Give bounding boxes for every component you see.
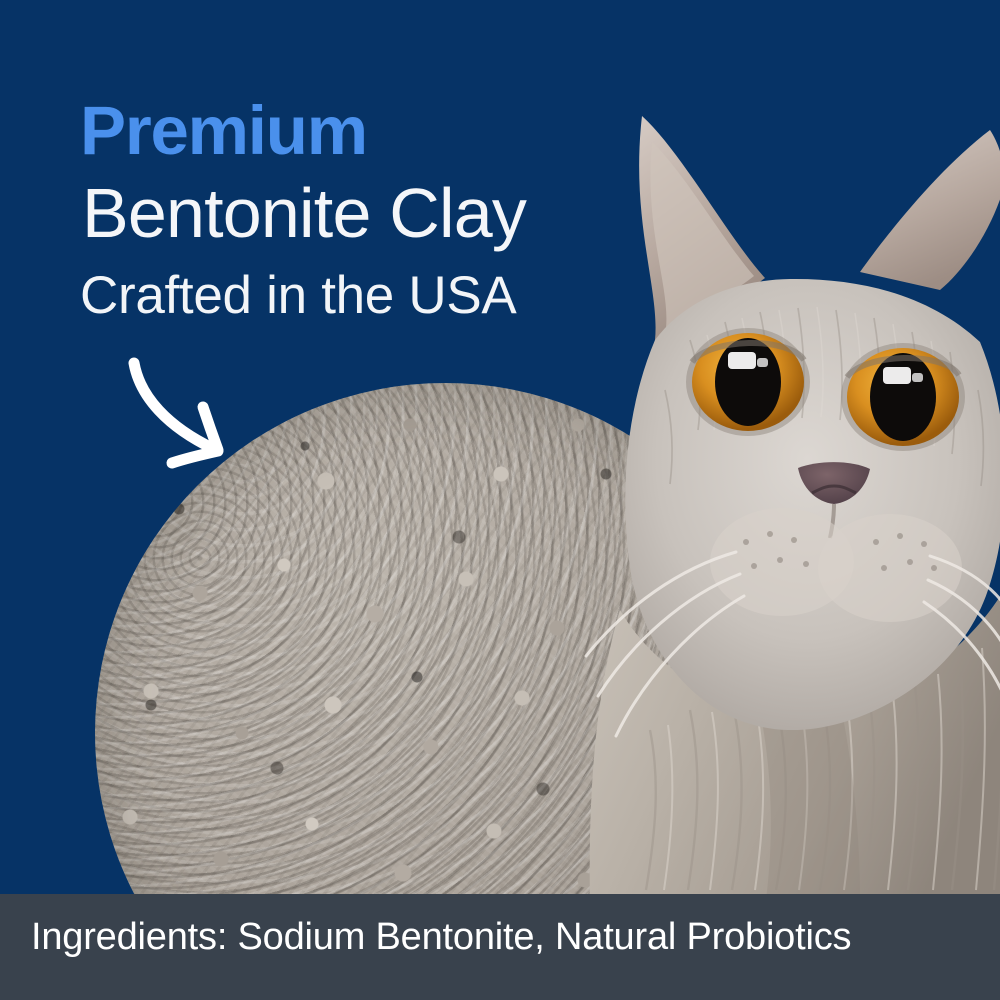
cat-head xyxy=(586,116,1000,736)
headline-block: Premium Bentonite Clay Crafted in the US… xyxy=(80,96,640,322)
product-infographic: Premium Bentonite Clay Crafted in the US… xyxy=(0,0,1000,1000)
page-title: Bentonite Clay xyxy=(82,178,640,249)
cat-illustration xyxy=(560,90,1000,900)
cat-photo xyxy=(560,90,1000,900)
ingredients-label: Ingredients: Sodium Bentonite, Natural P… xyxy=(31,916,851,959)
ingredients-bar: Ingredients: Sodium Bentonite, Natural P… xyxy=(0,894,1000,1000)
cat-right-eye xyxy=(841,343,965,451)
headline-eyebrow: Premium xyxy=(80,96,640,165)
headline-subtitle: Crafted in the USA xyxy=(80,269,640,322)
cat-left-eye xyxy=(686,328,810,436)
